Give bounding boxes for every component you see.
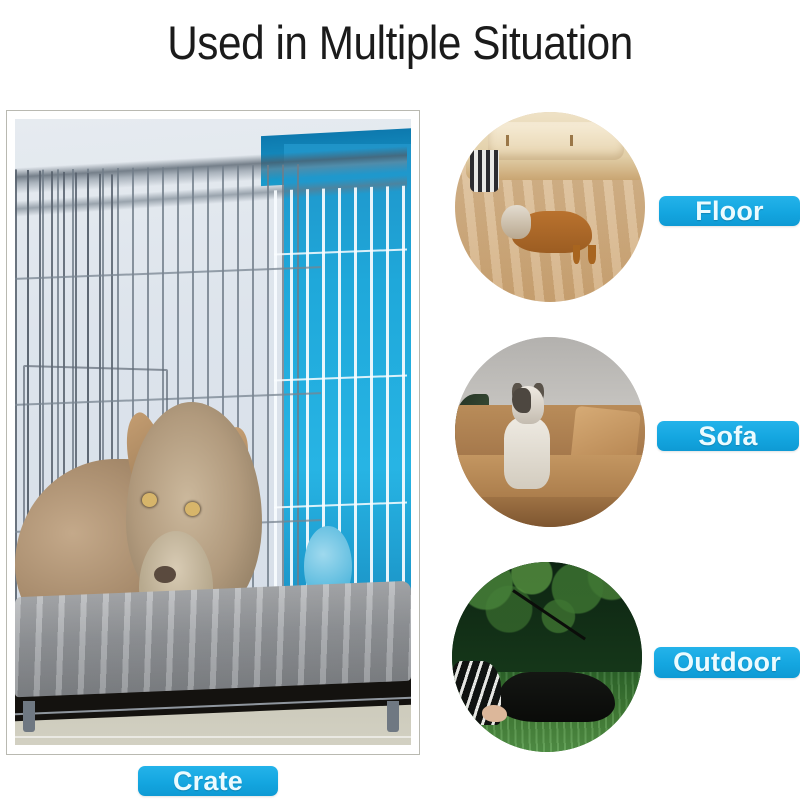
thumbnail-outdoor[interactable]	[452, 562, 642, 752]
crate-foot	[387, 701, 399, 732]
crate-foot	[23, 701, 35, 732]
floor-scene-sofa-leg	[506, 135, 509, 146]
sofa-scene-front-panel	[455, 497, 645, 527]
label-sofa[interactable]: Sofa	[657, 421, 799, 451]
outdoor-scene-dog	[498, 672, 616, 721]
label-crate[interactable]: Crate	[138, 766, 278, 796]
floor-scene-striped-bucket	[470, 150, 499, 192]
crate-scene-floor-line	[15, 736, 411, 738]
floor-scene	[455, 112, 645, 302]
floor-scene-sofa-leg	[570, 135, 573, 146]
label-floor[interactable]: Floor	[659, 196, 800, 226]
floor-scene-dog-leg	[588, 245, 596, 264]
pet-bed-mat	[15, 580, 411, 697]
outdoor-scene	[452, 562, 642, 752]
page-title: Used in Multiple Situation	[40, 14, 760, 72]
floor-scene-dog-head	[501, 205, 531, 239]
dog-nose	[154, 566, 176, 583]
thumbnail-floor[interactable]	[455, 112, 645, 302]
floor-scene-sofa-leg	[624, 135, 627, 146]
sofa-scene-dog-body	[504, 417, 550, 489]
outdoor-scene-hand	[482, 705, 507, 722]
main-photo-frame[interactable]	[6, 110, 420, 755]
sofa-scene	[455, 337, 645, 527]
label-outdoor[interactable]: Outdoor	[654, 647, 800, 678]
pet-bed-quilting	[15, 580, 411, 697]
crate-photo[interactable]	[15, 119, 411, 745]
floor-scene-dog-leg	[573, 245, 581, 264]
thumbnail-sofa[interactable]	[455, 337, 645, 527]
dog-eye-left	[142, 493, 157, 507]
sofa-scene-dog-face-patch	[512, 388, 531, 413]
